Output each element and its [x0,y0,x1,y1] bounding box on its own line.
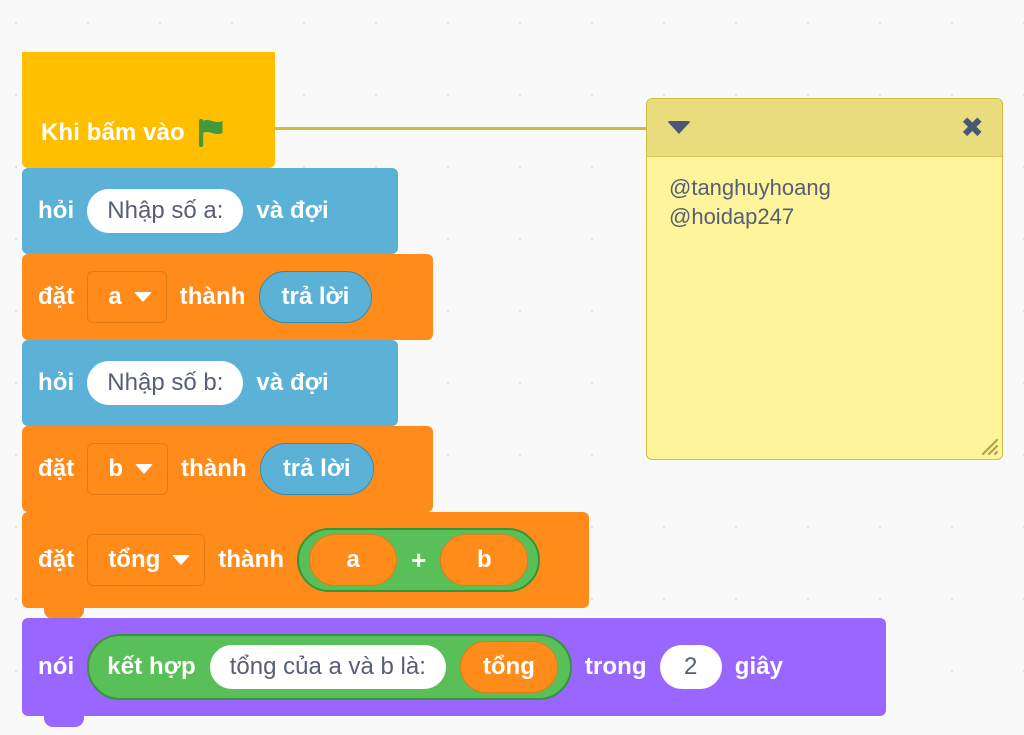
resize-handle-icon[interactable] [977,434,999,456]
set-label-b: đặt [38,455,74,483]
block-say-for-seconds[interactable]: nói kết hợp tổng của a và b là: tổng tro… [22,618,886,716]
reporter-answer-a[interactable]: trả lời [259,271,373,323]
operator-plus-symbol: + [411,545,426,576]
join-label: kết hợp [107,653,195,681]
say-duration-label-after: giây [735,653,783,681]
ask-prompt-input-a[interactable]: Nhập số a: [87,189,243,233]
set-to-label-a: thành [180,283,246,311]
variable-dropdown-value-tong: tổng [108,546,160,574]
workspace-comment[interactable]: ✖ @tanghuyhoang @hoidap247 [646,98,1003,460]
comment-connector-line [274,127,648,130]
ask-prompt-input-b[interactable]: Nhập số b: [87,361,243,405]
variable-dropdown-value-b: b [108,455,123,483]
join-variable-operand[interactable]: tổng [460,641,558,693]
set-to-label-b: thành [181,455,247,483]
ask-label-a: hỏi [38,197,74,225]
reporter-answer-b[interactable]: trả lời [260,443,374,495]
chevron-down-icon[interactable] [667,121,691,134]
variable-dropdown-b[interactable]: b [87,443,168,495]
block-when-flag-clicked[interactable]: Khi bấm vào [22,52,275,168]
operator-right-operand[interactable]: b [440,534,528,586]
operator-add[interactable]: a + b [297,528,540,592]
ask-wait-label-a: và đợi [256,197,328,225]
when-flag-clicked-label: Khi bấm vào [41,119,185,147]
comment-text[interactable]: @tanghuyhoang @hoidap247 [647,157,1002,247]
say-duration-input[interactable]: 2 [660,645,722,689]
block-ask-and-wait-a[interactable]: hỏi Nhập số a: và đợi [22,168,398,254]
block-set-variable-b[interactable]: đặt b thành trả lời [22,426,433,512]
block-set-variable-tong[interactable]: đặt tổng thành a + b [22,512,589,608]
say-duration-label-before: trong [585,653,647,681]
operator-left-operand[interactable]: a [309,534,397,586]
close-icon[interactable]: ✖ [961,114,984,142]
scratch-workspace[interactable]: Khi bấm vào hỏi Nhập số a: và đợi đặt a … [0,0,1024,735]
join-text-operand[interactable]: tổng của a và b là: [210,645,446,689]
ask-label-b: hỏi [38,369,74,397]
block-ask-and-wait-b[interactable]: hỏi Nhập số b: và đợi [22,340,398,426]
variable-dropdown-tong[interactable]: tổng [87,534,205,586]
chevron-down-icon [135,464,153,474]
variable-dropdown-a[interactable]: a [87,271,166,323]
variable-dropdown-value-a: a [108,283,121,311]
block-set-variable-a[interactable]: đặt a thành trả lời [22,254,433,340]
ask-wait-label-b: và đợi [256,369,328,397]
set-to-label-tong: thành [218,546,284,574]
chevron-down-icon [172,555,190,565]
green-flag-icon [197,117,227,149]
chevron-down-icon [134,292,152,302]
say-label: nói [38,653,74,681]
operator-join[interactable]: kết hợp tổng của a và b là: tổng [87,634,572,700]
set-label-tong: đặt [38,546,74,574]
set-label-a: đặt [38,283,74,311]
comment-header-bar[interactable]: ✖ [647,99,1002,157]
